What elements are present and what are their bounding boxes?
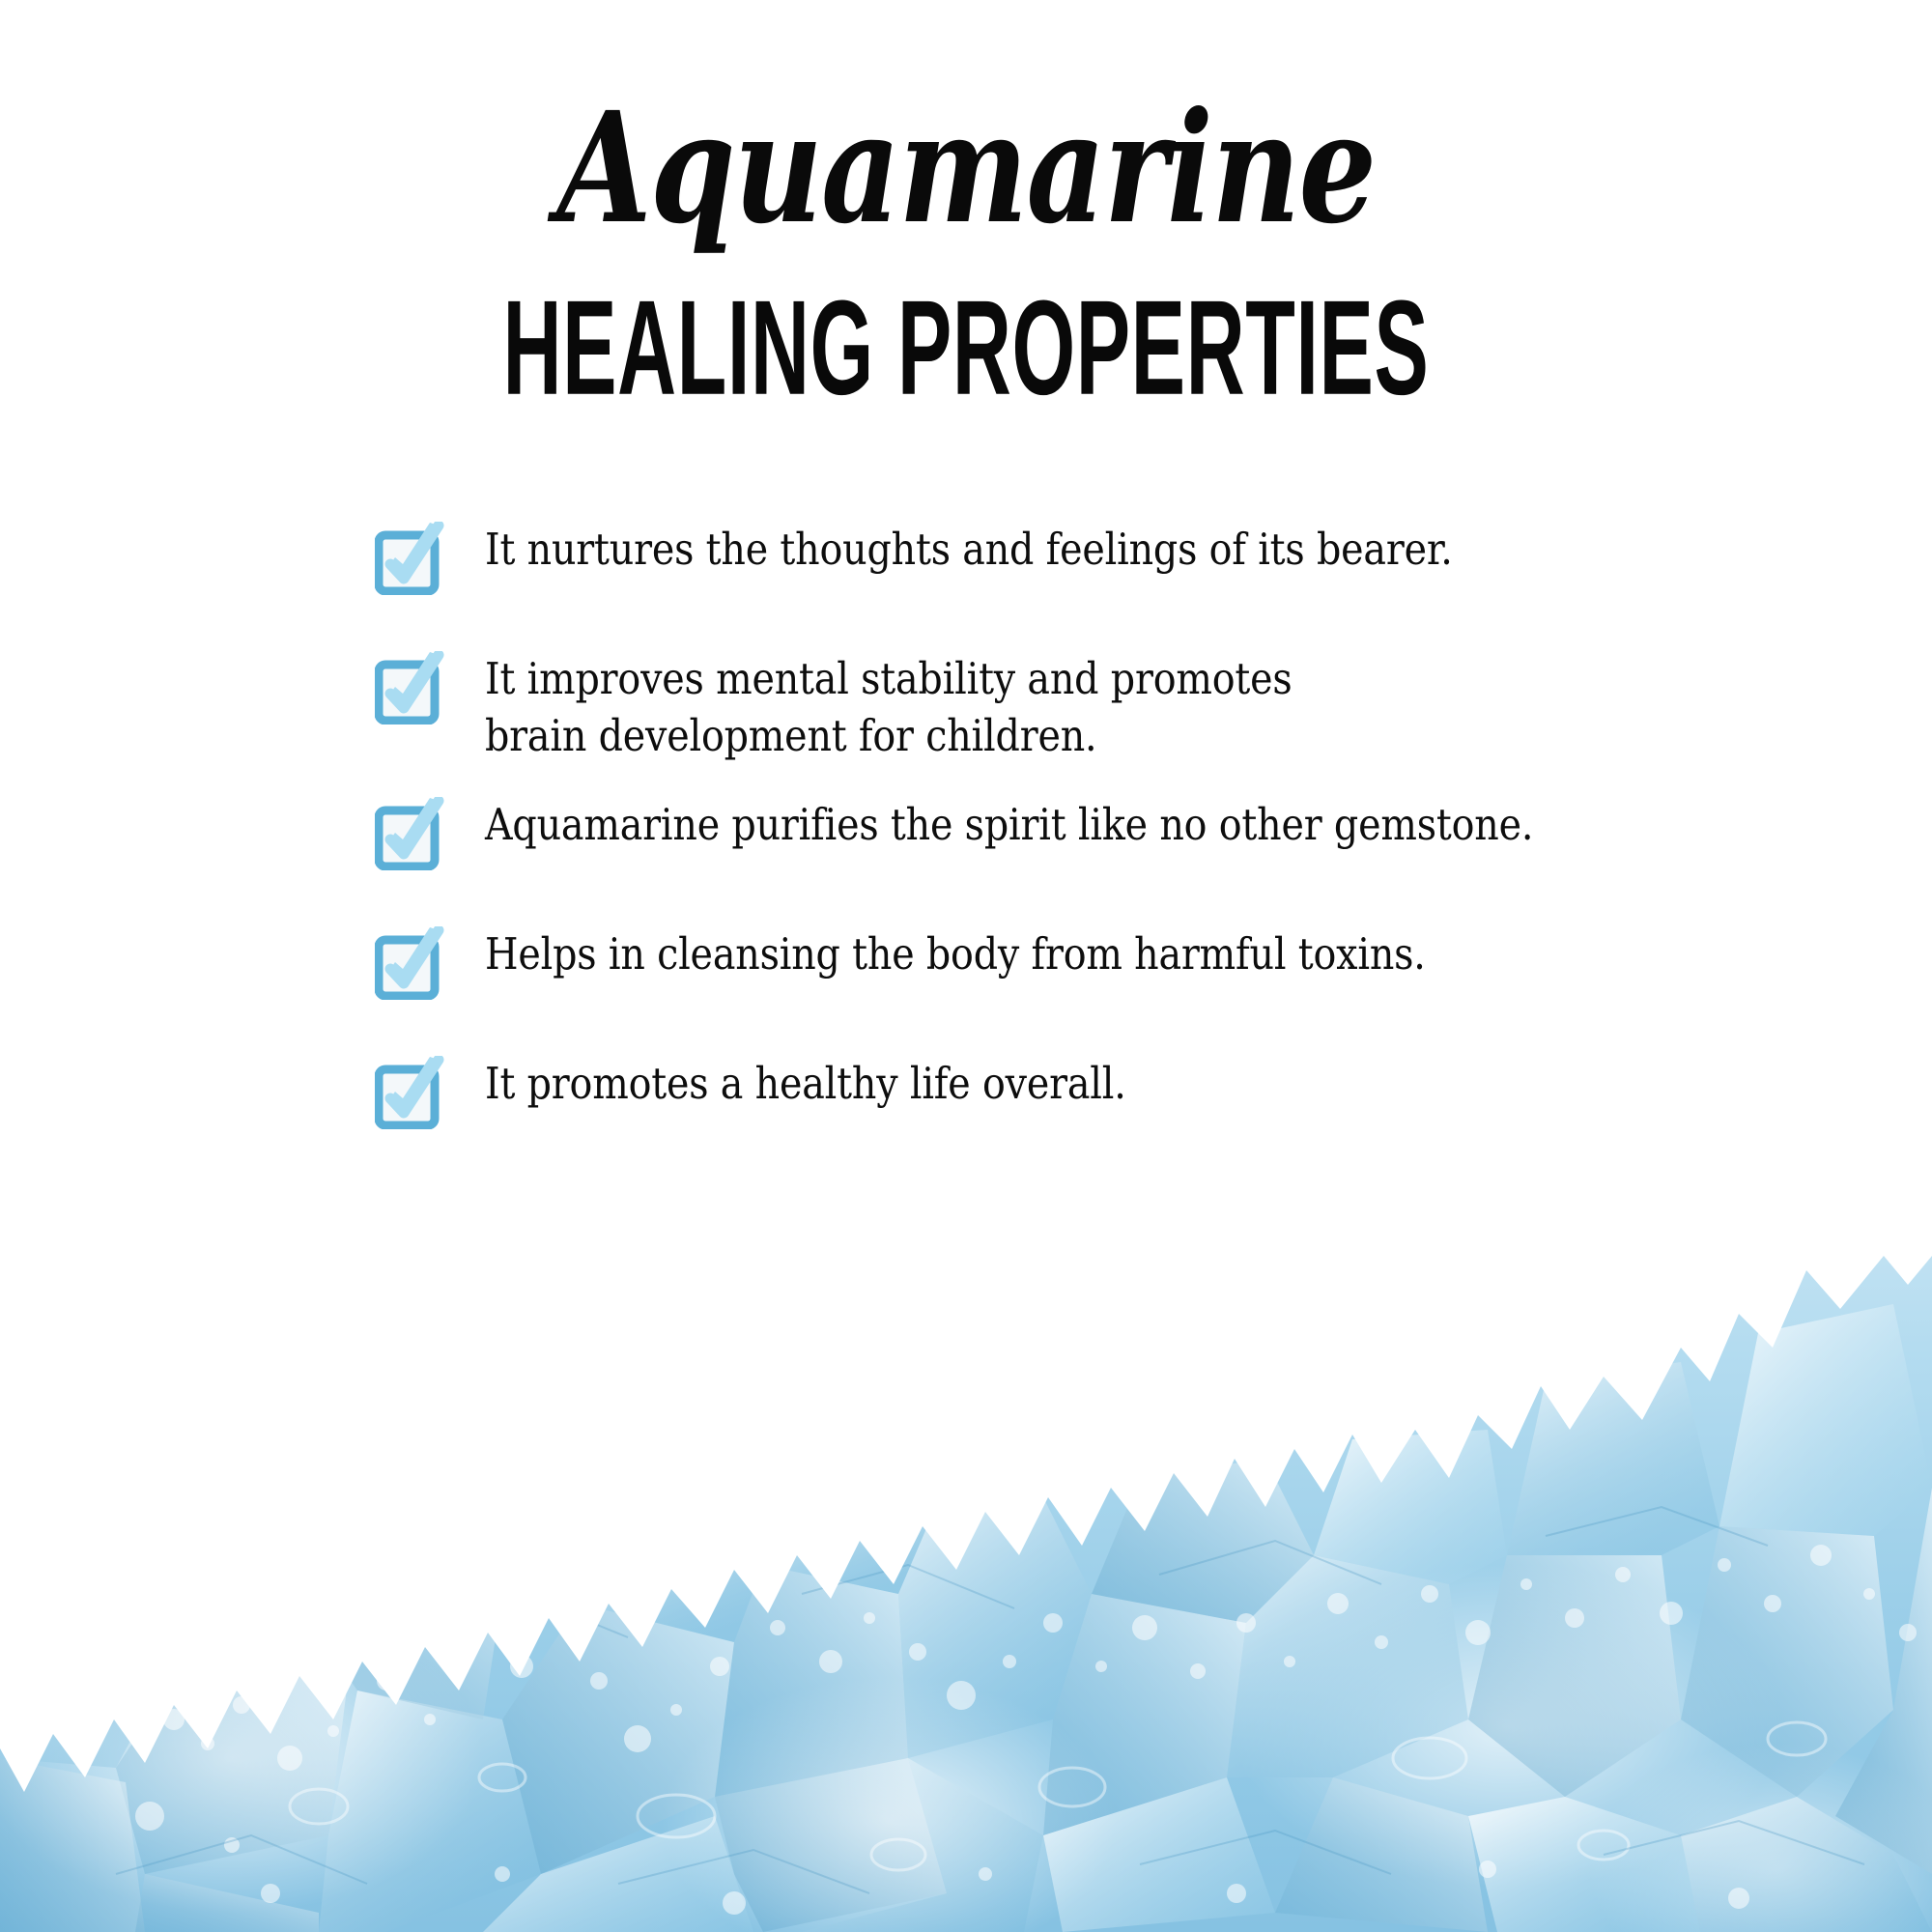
checkbox-checked-icon: [375, 926, 444, 1000]
checkbox-checked-icon: [375, 522, 444, 595]
list-item-text: Helps in cleansing the body from harmful…: [485, 923, 1426, 983]
checkbox-checked-icon: [375, 1056, 444, 1129]
list-item-text: It nurtures the thoughts and feelings of…: [485, 518, 1453, 579]
checkbox-checked-icon: [375, 651, 444, 724]
list-item: It nurtures the thoughts and feelings of…: [375, 518, 1843, 595]
list-item-text: It promotes a healthy life overall.: [485, 1052, 1126, 1113]
list-item-text: It improves mental stability and promote…: [485, 647, 1293, 764]
list-item: It improves mental stability and promote…: [375, 647, 1843, 764]
healing-properties-list: It nurtures the thoughts and feelings of…: [375, 518, 1843, 1181]
checkbox-checked-icon: [375, 797, 444, 870]
list-item-text: Aquamarine purifies the spirit like no o…: [485, 793, 1533, 854]
header: Aquamarine HEALING PROPERTIES: [0, 0, 1932, 413]
poster-canvas: Aquamarine HEALING PROPERTIES It nurture…: [0, 0, 1932, 1932]
list-item: It promotes a healthy life overall.: [375, 1052, 1843, 1129]
list-item: Aquamarine purifies the spirit like no o…: [375, 793, 1843, 870]
page-subtitle: HEALING PROPERTIES: [357, 281, 1575, 415]
ice-cubes-photo: [0, 1140, 1932, 1932]
page-title: Aquamarine: [193, 93, 1739, 245]
list-item: Helps in cleansing the body from harmful…: [375, 923, 1843, 1000]
ice-top-silhouette: [0, 1140, 1932, 1932]
